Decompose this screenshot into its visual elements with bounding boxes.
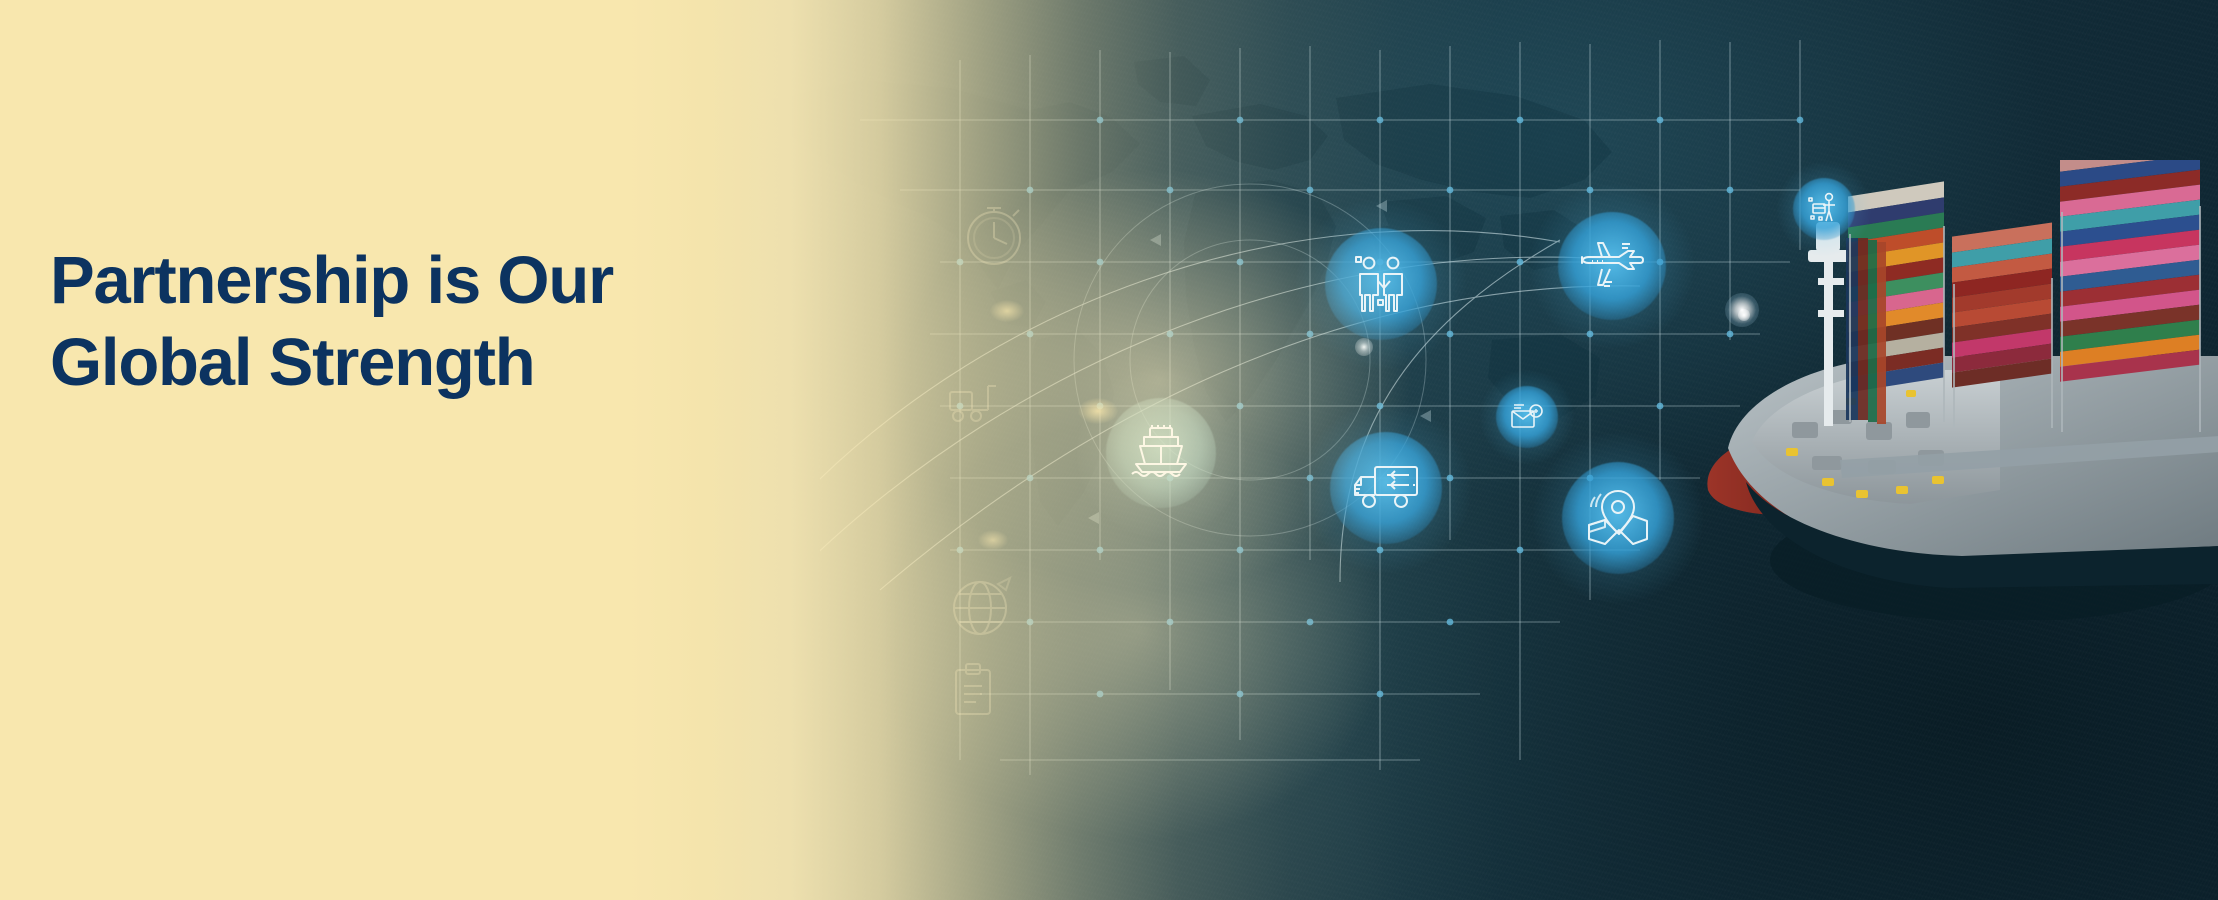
airplane-icon — [1558, 212, 1666, 320]
page-title: Partnership is Our Global Strength — [50, 240, 810, 404]
forklift-icon — [942, 370, 1004, 432]
map-pin-icon — [1562, 462, 1674, 574]
clipboard-icon — [946, 660, 1000, 720]
mail-package-icon — [1496, 386, 1558, 448]
globe-icon — [940, 566, 1020, 646]
handshake-icon — [1325, 228, 1437, 340]
stopwatch-icon — [955, 196, 1033, 274]
cargo-ship-icon — [1106, 398, 1216, 508]
warehouse-worker-icon — [1793, 178, 1855, 240]
headline-line-1: Partnership is Our — [50, 240, 810, 322]
hero-banner: Partnership is Our Global Strength — [0, 0, 2218, 900]
delivery-truck-icon — [1330, 432, 1442, 544]
headline-line-2: Global Strength — [50, 322, 810, 404]
